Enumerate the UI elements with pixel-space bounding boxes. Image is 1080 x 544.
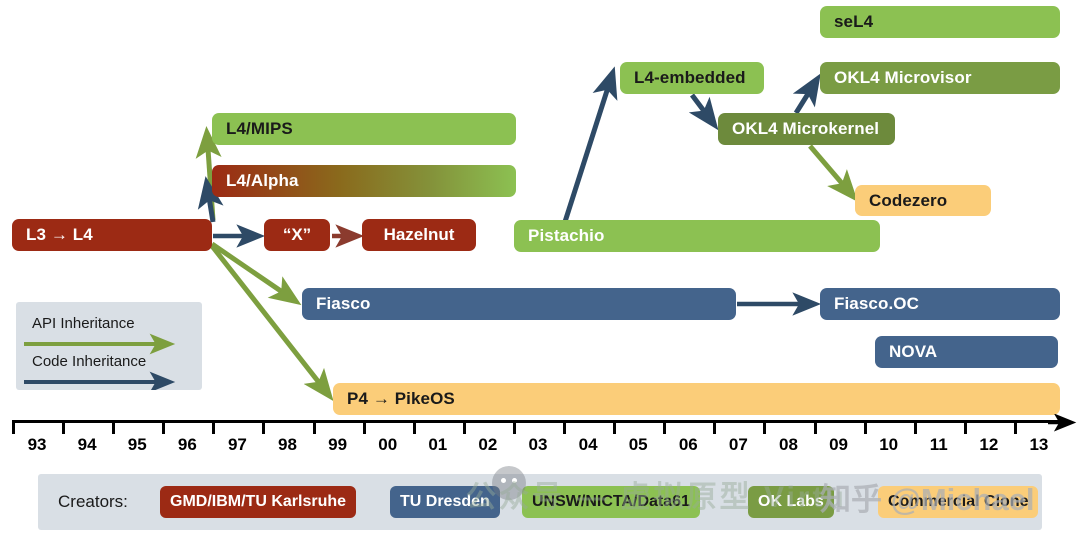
axis-tick [914, 420, 917, 434]
axis-year-label: 95 [128, 435, 147, 455]
year-axis: 9394959697989900010203040506070809101112… [0, 420, 1080, 466]
axis-tick [763, 420, 766, 434]
creator-chip-label: GMD/IBM/TU Karlsruhe [170, 493, 346, 511]
axis-tick [1014, 420, 1017, 434]
axis-tick [313, 420, 316, 434]
legend-code-label: Code Inheritance [32, 353, 146, 370]
creator-chip-label: OK Labs [758, 493, 824, 511]
legend-panel: API Inheritance Code Inheritance [16, 302, 202, 390]
bar-label: Pistachio [528, 226, 604, 246]
node-label: “X” [283, 225, 311, 245]
bar-label: L4-embedded [634, 68, 746, 88]
bar-l4-alpha[interactable]: L4/Alpha [212, 165, 516, 197]
arrow-okl4microkernel-to-microvisor [796, 81, 816, 113]
axis-tick [563, 420, 566, 434]
bar-label: OKL4 Microkernel [732, 119, 879, 139]
diagram-canvas: seL4L4-embeddedOKL4 MicrovisorL4/MIPSOKL… [0, 0, 1080, 544]
arrow-l3l4-to-fiasco [212, 244, 294, 300]
arrow-pistachio-to-l4embedded [563, 75, 612, 228]
bar-okl4-microkernel[interactable]: OKL4 Microkernel [718, 113, 895, 145]
bar-l4-mips[interactable]: L4/MIPS [212, 113, 516, 145]
axis-year-label: 13 [1029, 435, 1048, 455]
creator-chip-label: UNSW/NICTA/Data61 [532, 493, 690, 511]
bar-label: L4/Alpha [226, 171, 299, 191]
axis-tick [463, 420, 466, 434]
bar-label: Codezero [869, 191, 947, 211]
node-hazelnut[interactable]: Hazelnut [362, 219, 476, 251]
bar-pistachio[interactable]: Pistachio [514, 220, 880, 252]
creator-chip-tu-dresden[interactable]: TU Dresden [390, 486, 500, 518]
bar-p4-pikeos[interactable]: P4 → PikeOS [333, 383, 1060, 415]
axis-year-label: 02 [478, 435, 497, 455]
axis-year-label: 03 [529, 435, 548, 455]
bar-label: P4 → PikeOS [347, 389, 455, 409]
axis-year-label: 94 [78, 435, 97, 455]
axis-year-label: 99 [328, 435, 347, 455]
creator-chip-label: Commercial Clone [888, 493, 1028, 511]
axis-tick [363, 420, 366, 434]
axis-tick [62, 420, 65, 434]
bar-okl4-microvisor[interactable]: OKL4 Microvisor [820, 62, 1060, 94]
axis-year-label: 01 [428, 435, 447, 455]
axis-tick [864, 420, 867, 434]
axis-tick [613, 420, 616, 434]
bar-codezero[interactable]: Codezero [855, 185, 991, 216]
node-x-box[interactable]: “X” [264, 219, 330, 251]
creators-label: Creators: [58, 492, 128, 512]
axis-year-label: 09 [829, 435, 848, 455]
axis-tick [262, 420, 265, 434]
axis-year-label: 98 [278, 435, 297, 455]
axis-tick [212, 420, 215, 434]
bar-label: OKL4 Microvisor [834, 68, 972, 88]
axis-tick [413, 420, 416, 434]
creator-chip-gmd-ibm-tu-karlsruhe[interactable]: GMD/IBM/TU Karlsruhe [160, 486, 356, 518]
axis-tick [162, 420, 165, 434]
bar-label: NOVA [889, 342, 937, 362]
bar-label: seL4 [834, 12, 873, 32]
legend-arrows [16, 302, 202, 390]
axis-year-label: 96 [178, 435, 197, 455]
creator-chip-commercial-clone[interactable]: Commercial Clone [878, 486, 1038, 518]
bar-fiasco[interactable]: Fiasco [302, 288, 736, 320]
bar-nova[interactable]: NOVA [875, 336, 1058, 368]
axis-tick [112, 420, 115, 434]
axis-year-label: 07 [729, 435, 748, 455]
axis-year-label: 10 [879, 435, 898, 455]
bar-sel4[interactable]: seL4 [820, 6, 1060, 38]
axis-tick [713, 420, 716, 434]
bar-fiasco-oc[interactable]: Fiasco.OC [820, 288, 1060, 320]
bar-label: L3 → L4 [26, 225, 93, 245]
axis-tick [814, 420, 817, 434]
creators-panel: Creators: GMD/IBM/TU KarlsruheTU Dresden… [38, 474, 1042, 530]
bar-label: Fiasco.OC [834, 294, 919, 314]
axis-tick [964, 420, 967, 434]
bar-l3-to-l4[interactable]: L3 → L4 [12, 219, 212, 251]
axis-year-label: 00 [378, 435, 397, 455]
axis-year-label: 97 [228, 435, 247, 455]
axis-year-label: 06 [679, 435, 698, 455]
axis-year-label: 11 [930, 435, 948, 455]
axis-tick [12, 420, 15, 434]
creator-chip-ok-labs[interactable]: OK Labs [748, 486, 834, 518]
axis-year-label: 93 [28, 435, 47, 455]
axis-tick [663, 420, 666, 434]
bar-label: L4/MIPS [226, 119, 293, 139]
creator-chip-label: TU Dresden [400, 493, 490, 511]
arrow-l4embedded-to-okl4microkernel [692, 95, 713, 123]
axis-year-label: 04 [579, 435, 598, 455]
node-label: Hazelnut [384, 225, 455, 245]
axis-year-label: 05 [629, 435, 648, 455]
axis-year-label: 08 [779, 435, 798, 455]
creator-chip-unsw-nicta-data61[interactable]: UNSW/NICTA/Data61 [522, 486, 700, 518]
bar-l4-embedded[interactable]: L4-embedded [620, 62, 764, 94]
arrow-okl4microkernel-to-codezero [810, 146, 852, 195]
axis-year-label: 12 [979, 435, 998, 455]
arrow-l3l4-to-pikeos [212, 246, 328, 394]
bar-label: Fiasco [316, 294, 370, 314]
axis-tick [513, 420, 516, 434]
